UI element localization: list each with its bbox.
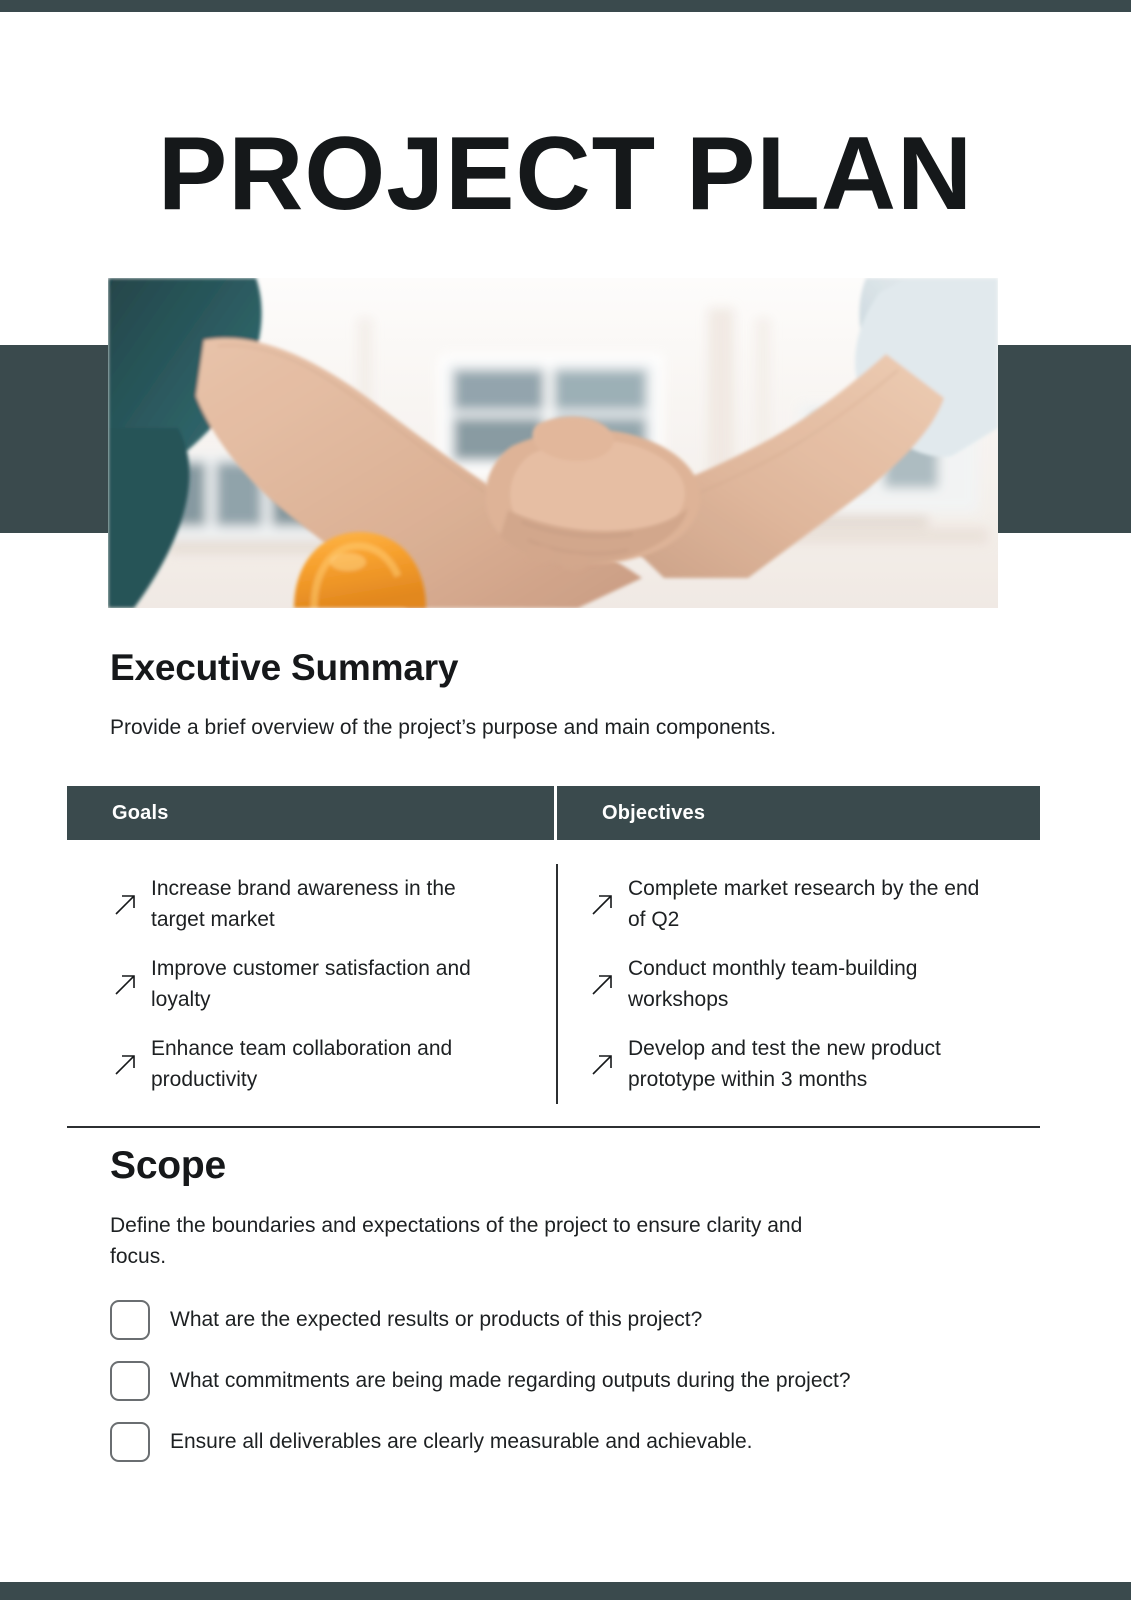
page-title: PROJECT PLAN	[0, 118, 1131, 230]
handshake-construction-photo	[108, 278, 998, 608]
list-item-label: Improve customer satisfaction and loyalt…	[151, 953, 481, 1015]
list-item-label: Increase brand awareness in the target m…	[151, 873, 481, 935]
checklist-label: What commitments are being made regardin…	[170, 1366, 851, 1396]
goals-column: Increase brand awareness in the target m…	[67, 864, 556, 1104]
table-body: Increase brand awareness in the target m…	[67, 840, 1040, 1128]
checkbox[interactable]	[110, 1422, 150, 1462]
checklist-row[interactable]: What commitments are being made regardin…	[110, 1350, 1010, 1411]
list-item: Complete market research by the end of Q…	[558, 864, 1040, 944]
column-header-goals: Goals	[67, 786, 554, 840]
arrow-up-right-icon	[109, 1050, 143, 1078]
list-item-label: Conduct monthly team-building workshops	[628, 953, 998, 1015]
arrow-up-right-icon	[586, 890, 620, 918]
objectives-column: Complete market research by the end of Q…	[556, 864, 1040, 1104]
checklist-row[interactable]: What are the expected results or product…	[110, 1289, 1010, 1350]
table-header-row: Goals Objectives	[67, 786, 1040, 840]
list-item-label: Develop and test the new product prototy…	[628, 1033, 998, 1095]
executive-summary-heading: Executive Summary	[110, 646, 458, 690]
list-item: Enhance team collaboration and productiv…	[67, 1024, 556, 1104]
arrow-up-right-icon	[586, 1050, 620, 1078]
checkbox[interactable]	[110, 1361, 150, 1401]
scope-checklist: What are the expected results or product…	[110, 1289, 1010, 1472]
list-item-label: Enhance team collaboration and productiv…	[151, 1033, 481, 1095]
project-plan-page: PROJECT PLAN	[0, 0, 1131, 1600]
list-item: Increase brand awareness in the target m…	[67, 864, 556, 944]
top-accent-bar	[0, 0, 1131, 12]
list-item: Conduct monthly team-building workshops	[558, 944, 1040, 1024]
arrow-up-right-icon	[109, 970, 143, 998]
goals-objectives-table: Goals Objectives Increase brand awarenes…	[67, 786, 1040, 1128]
checklist-label: Ensure all deliverables are clearly meas…	[170, 1427, 753, 1457]
checkbox[interactable]	[110, 1300, 150, 1340]
scope-heading: Scope	[110, 1142, 226, 1190]
column-header-objectives: Objectives	[557, 786, 1040, 840]
hero-image	[108, 278, 998, 608]
arrow-up-right-icon	[586, 970, 620, 998]
checklist-label: What are the expected results or product…	[170, 1305, 702, 1335]
list-item: Improve customer satisfaction and loyalt…	[67, 944, 556, 1024]
list-item-label: Complete market research by the end of Q…	[628, 873, 998, 935]
arrow-up-right-icon	[109, 890, 143, 918]
bottom-accent-bar	[0, 1582, 1131, 1600]
executive-summary-description: Provide a brief overview of the project’…	[110, 713, 776, 743]
list-item: Develop and test the new product prototy…	[558, 1024, 1040, 1104]
scope-description: Define the boundaries and expectations o…	[110, 1210, 810, 1272]
checklist-row[interactable]: Ensure all deliverables are clearly meas…	[110, 1411, 1010, 1472]
